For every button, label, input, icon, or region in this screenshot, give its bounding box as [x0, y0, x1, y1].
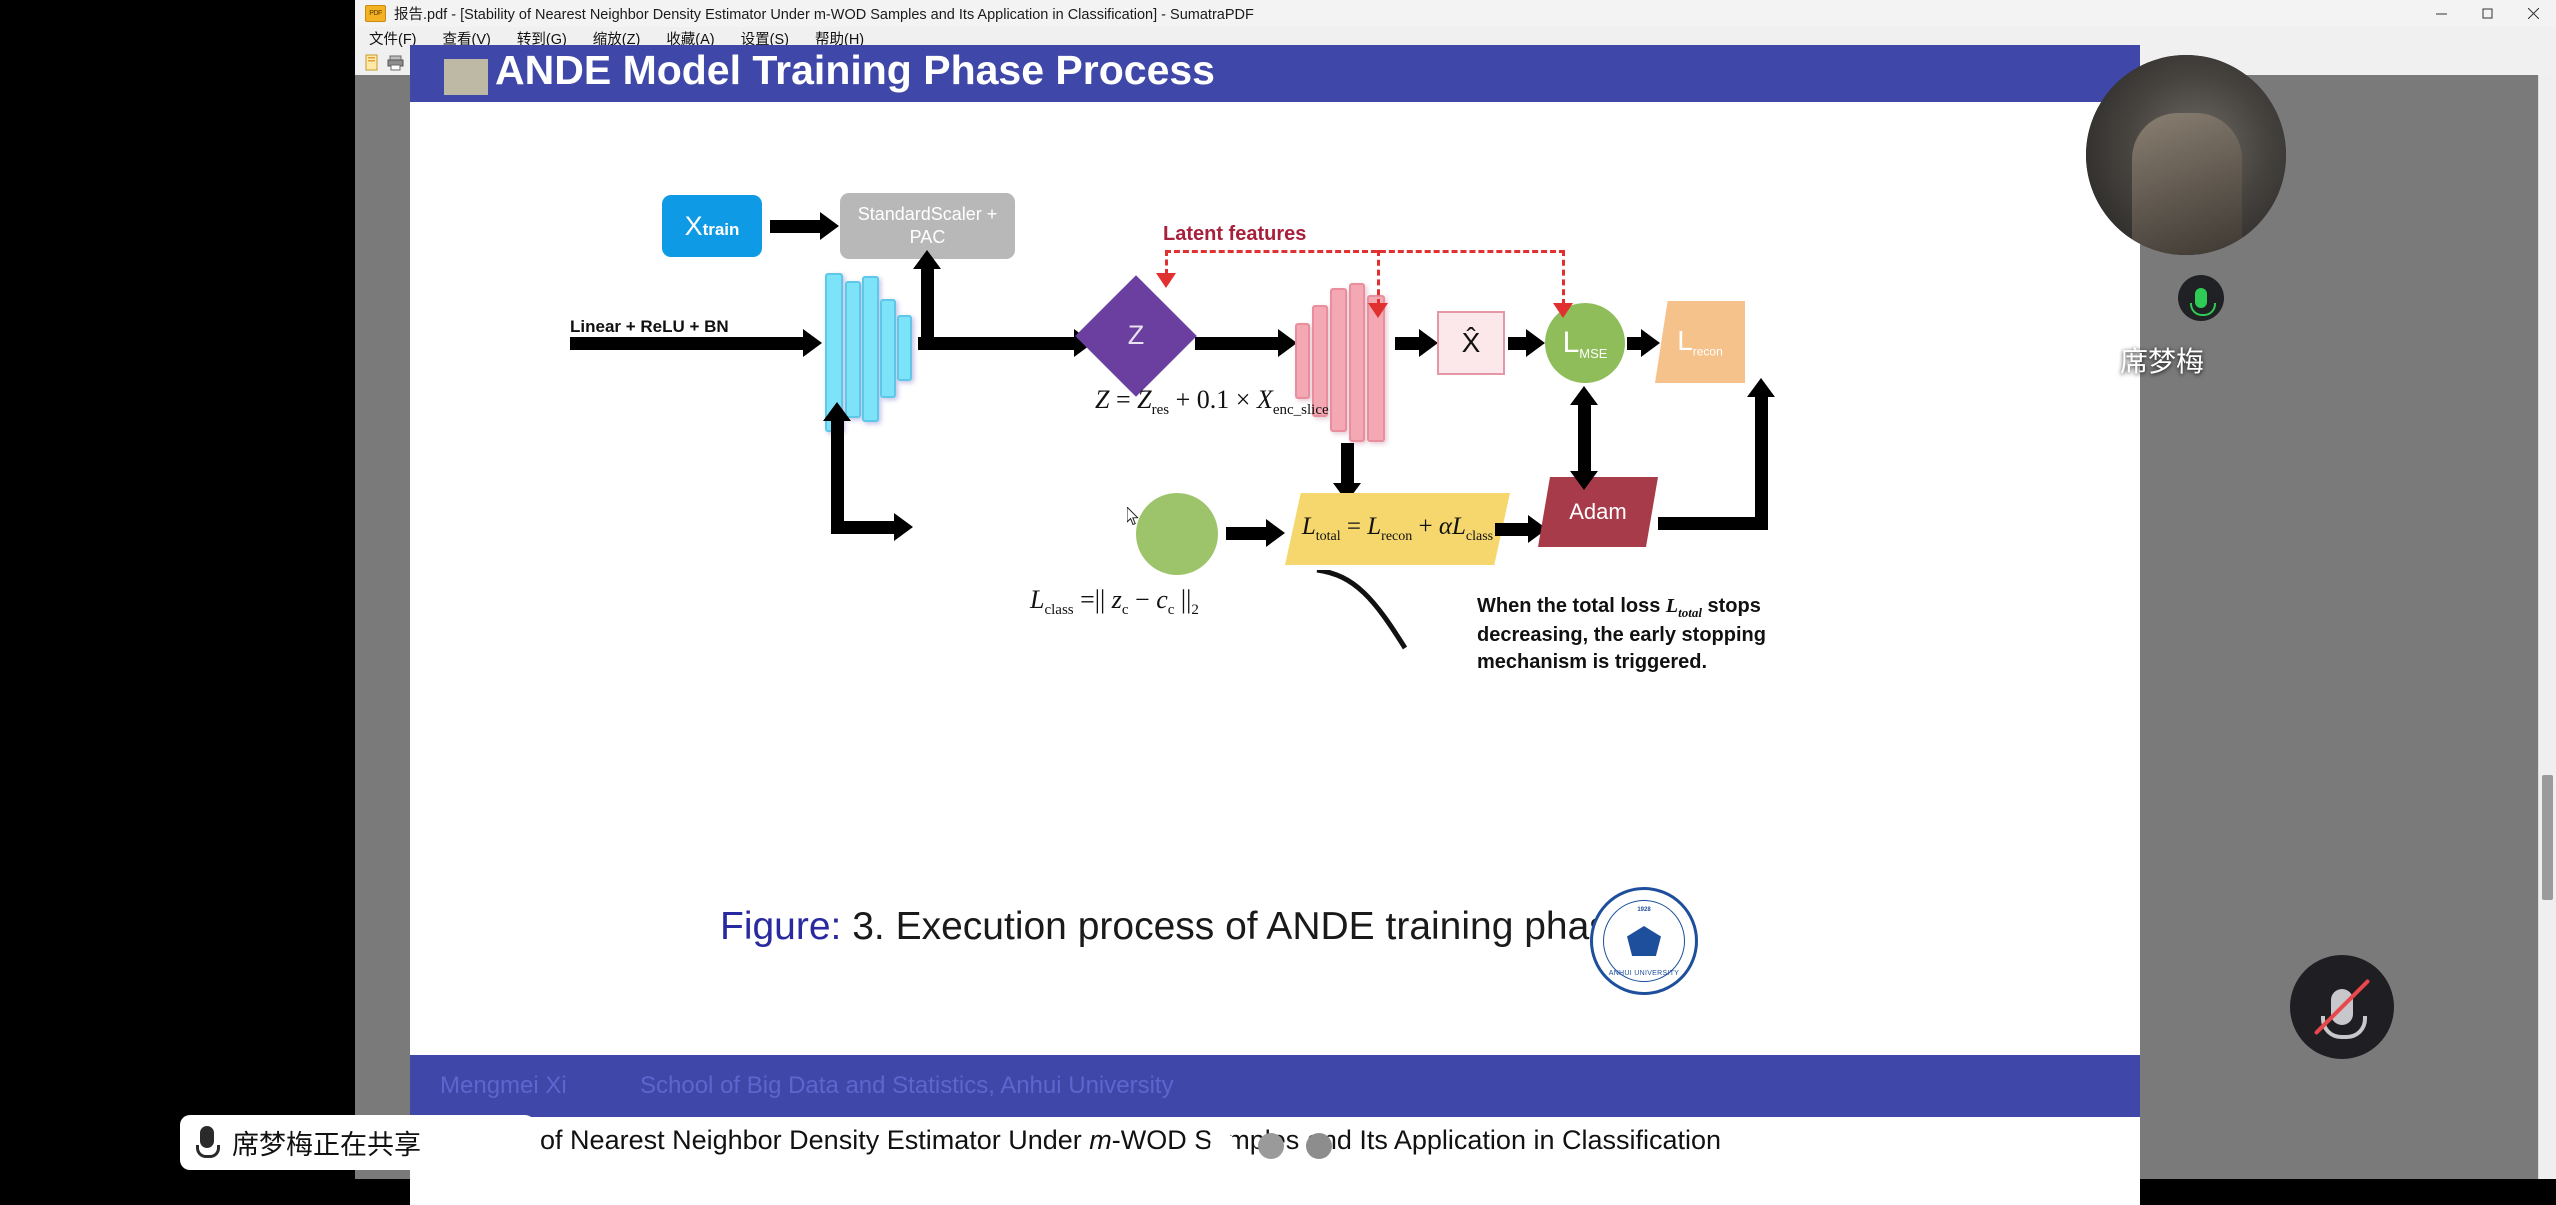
node-l-total-formula: Ltotal = Lrecon + αLclass	[1302, 513, 1493, 545]
node-x-train-subscript: train	[703, 220, 740, 239]
early-stopping-note: When the total loss Ltotal stops decreas…	[1477, 593, 1777, 676]
arrow-encoder-to-scaler	[921, 267, 934, 342]
maximize-icon[interactable]	[2464, 0, 2510, 27]
arrow-decoder-to-xhat	[1395, 337, 1421, 350]
dashed-arrow-to-z	[1156, 273, 1176, 288]
logo-year: 1928	[1637, 907, 1650, 913]
arrow-green-to-ltotal	[1226, 527, 1268, 540]
formula-z-update: Z = Zres + 0.1 × Xenc_slice	[1095, 385, 1329, 419]
dashed-arrow-to-lrecon	[1553, 303, 1573, 318]
node-l-mse-subscript: MSE	[1579, 345, 1607, 360]
arrow-lmse-to-lrecon	[1627, 337, 1643, 350]
title-bar: PDF 报告.pdf - [Stability of Nearest Neigh…	[355, 0, 2556, 28]
figure-caption-text: 3. Execution process of ANDE training ph…	[852, 905, 1630, 948]
dashed-line-top	[1165, 250, 1565, 253]
note-curve	[1315, 570, 1465, 660]
arrow-encoder-to-z	[918, 337, 1076, 350]
university-logo-inner: 1928 ANHUI UNIVERSITY	[1603, 900, 1685, 982]
dashed-line-left	[1165, 250, 1168, 275]
share-status-text: 席梦梅正在共享	[232, 1123, 421, 1162]
arrow-input-to-encoder	[570, 337, 805, 350]
node-latent-z-label: Z	[1110, 318, 1162, 352]
node-x-hat: X̂	[1437, 311, 1505, 375]
arrow-decoder-to-ltotal	[1341, 443, 1354, 485]
training-diagram: Xtrain StandardScaler + PAC	[410, 45, 2140, 1055]
pdf-icon: PDF	[365, 5, 386, 22]
node-l-total: Ltotal = Lrecon + αLclass	[1285, 493, 1510, 565]
screen: PDF 报告.pdf - [Stability of Nearest Neigh…	[0, 0, 2556, 1179]
node-x-train: Xtrain	[662, 195, 762, 257]
footer-affiliation: School of Big Data and Statistics, Anhui…	[640, 1072, 1174, 1100]
dashed-arrow-to-xhat	[1368, 303, 1388, 318]
open-file-icon[interactable]	[363, 53, 382, 72]
dashed-line-mid	[1377, 250, 1380, 305]
node-l-recon-symbol: L	[1677, 325, 1693, 356]
page-dot-active[interactable]	[1210, 1133, 1236, 1159]
node-x-train-symbol: X	[685, 211, 703, 241]
microphone-icon	[2178, 275, 2224, 321]
arrow-xtrain-to-scaler	[770, 220, 822, 233]
window-title: 报告.pdf - [Stability of Nearest Neighbor …	[394, 3, 1254, 24]
vertical-scrollbar[interactable]	[2538, 75, 2556, 1179]
video-person	[2132, 113, 2242, 255]
university-logo: 1928 ANHUI UNIVERSITY	[1590, 887, 1698, 995]
arrow-xhat-to-lmse	[1508, 337, 1528, 350]
close-icon[interactable]	[2510, 0, 2556, 27]
node-l-recon: Lrecon	[1655, 301, 1745, 383]
feedback-arrow-left-up	[831, 419, 844, 534]
page-dot-2[interactable]	[1306, 1133, 1332, 1159]
slide-footer-bar: Mengmei Xi School of Big Data and Statis…	[410, 1055, 2140, 1117]
node-adam: Adam	[1538, 477, 1658, 547]
node-x-hat-label: X̂	[1462, 327, 1481, 359]
node-adam-label: Adam	[1569, 499, 1626, 525]
footer-author: Mengmei Xi	[440, 1072, 567, 1100]
arrow-ltotal-to-adam	[1495, 523, 1530, 536]
microphone-muted-icon[interactable]	[2290, 955, 2394, 1059]
page-dots	[1210, 1133, 1332, 1159]
label-linear-relu-bn: Linear + ReLU + BN	[570, 317, 729, 337]
share-status-bar[interactable]: 席梦梅正在共享	[180, 1115, 535, 1170]
scrollbar-thumb[interactable]	[2542, 775, 2553, 900]
node-class-center	[1136, 493, 1218, 575]
pdf-page: ANDE Model Training Phase Process Xtrain…	[410, 45, 2140, 1205]
dashed-line-right	[1562, 250, 1565, 305]
window-controls	[2418, 0, 2556, 27]
minimize-icon[interactable]	[2418, 0, 2464, 27]
label-latent-features: Latent features	[1163, 223, 1306, 246]
node-l-recon-subscript: recon	[1693, 345, 1723, 359]
footer-paper-title: Stability of Nearest Neighbor Density Es…	[438, 1125, 1721, 1156]
feedback-line-right	[1658, 517, 1768, 530]
participant-name: 席梦梅	[2120, 340, 2204, 380]
arrow-left-to-green	[831, 521, 896, 534]
node-l-mse-symbol: L	[1563, 326, 1580, 359]
figure-caption: Figure: 3. Execution process of ANDE tra…	[720, 905, 1631, 949]
arrow-z-to-decoder	[1195, 337, 1280, 350]
arrow-lmse-to-adam	[1578, 403, 1591, 473]
page-dot[interactable]	[1258, 1133, 1284, 1159]
formula-l-class: Lclass =|| zc − cc ||2	[1030, 585, 1199, 619]
logo-text: ANHUI UNIVERSITY	[1609, 970, 1680, 977]
feedback-arrow-up	[1755, 395, 1768, 525]
logo-glyph	[1627, 926, 1661, 956]
figure-caption-prefix: Figure:	[720, 905, 841, 948]
print-icon[interactable]	[386, 53, 405, 72]
mouse-cursor	[1127, 507, 1139, 526]
participant-video[interactable]	[2086, 55, 2286, 255]
share-microphone-icon	[196, 1126, 218, 1160]
